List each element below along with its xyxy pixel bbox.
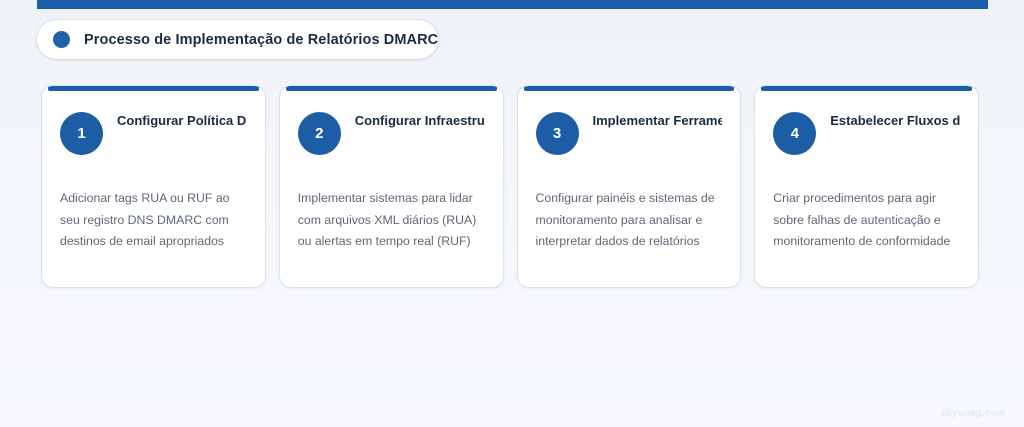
step-description: Criar procedimentos para agir sobre falh… <box>773 188 960 253</box>
step-title: Estabelecer Fluxos de Resposta <box>830 109 960 131</box>
steps-card-row: 1 Configurar Política DMARC Adicionar ta… <box>42 86 978 287</box>
step-card-3[interactable]: 3 Implementar Ferramentas de Configurar … <box>518 86 741 287</box>
watermark: skysnag.com <box>940 408 1006 419</box>
step-number-badge: 2 <box>298 112 341 155</box>
process-header-pill: Processo de Implementação de Relatórios … <box>37 20 438 59</box>
card-header: 2 Configurar Infraestrutura de <box>298 109 485 171</box>
card-accent-bar <box>524 86 735 91</box>
card-accent-bar <box>286 86 497 91</box>
step-title: Implementar Ferramentas de <box>593 109 723 131</box>
card-header: 3 Implementar Ferramentas de <box>536 109 723 171</box>
step-title: Configurar Política DMARC <box>117 109 247 131</box>
step-card-4[interactable]: 4 Estabelecer Fluxos de Resposta Criar p… <box>755 86 978 287</box>
card-header: 4 Estabelecer Fluxos de Resposta <box>773 109 960 171</box>
step-card-1[interactable]: 1 Configurar Política DMARC Adicionar ta… <box>42 86 265 287</box>
step-number-badge: 3 <box>536 112 579 155</box>
step-description: Adicionar tags RUA ou RUF ao seu registr… <box>60 188 247 253</box>
step-card-2[interactable]: 2 Configurar Infraestrutura de Implement… <box>280 86 503 287</box>
step-number-badge: 1 <box>60 112 103 155</box>
card-accent-bar <box>48 86 259 91</box>
page-title: Processo de Implementação de Relatórios … <box>84 32 438 48</box>
bullet-dot-icon <box>53 31 70 48</box>
step-title: Configurar Infraestrutura de <box>355 109 485 131</box>
card-accent-bar <box>761 86 972 91</box>
step-description: Implementar sistemas para lidar com arqu… <box>298 188 485 253</box>
step-description: Configurar painéis e sistemas de monitor… <box>536 188 723 253</box>
top-accent-bar <box>37 0 988 9</box>
step-number-badge: 4 <box>773 112 816 155</box>
card-header: 1 Configurar Política DMARC <box>60 109 247 171</box>
